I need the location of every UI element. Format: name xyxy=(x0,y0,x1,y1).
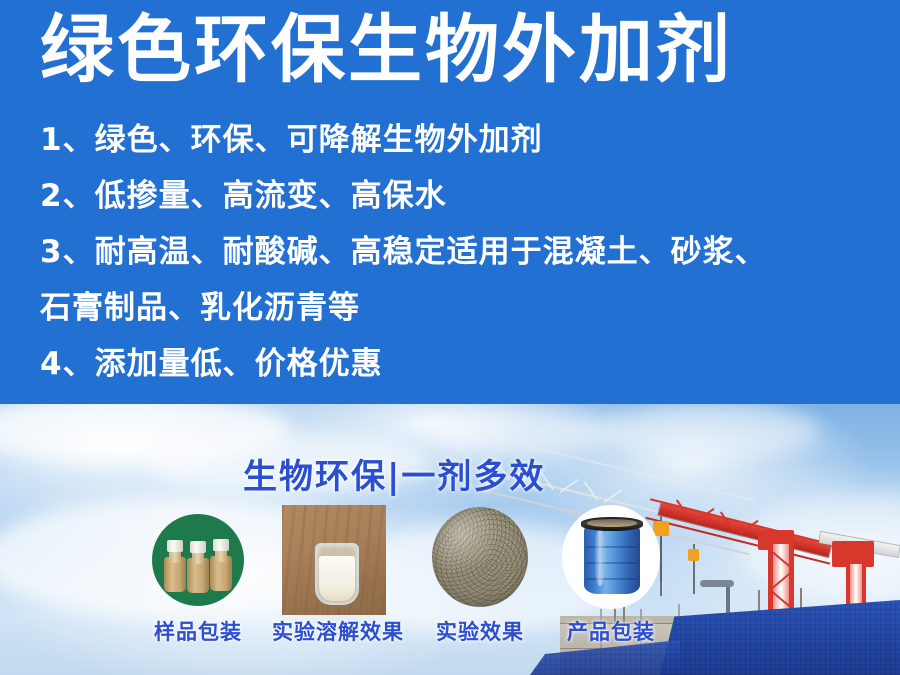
feature-item: 3、耐高温、耐酸碱、高稳定适用于混凝土、砂浆、 xyxy=(40,224,870,280)
cloud-shape xyxy=(600,404,820,459)
beaker-shape xyxy=(315,543,359,605)
product-poster: 绿色环保生物外加剂 1、绿色、环保、可降解生物外加剂 2、低掺量、高流变、高保水… xyxy=(0,0,900,675)
blue-safety-netting xyxy=(660,600,900,675)
beaker-dissolution-icon[interactable] xyxy=(282,505,386,615)
crane-hook-block xyxy=(688,549,699,561)
crane-hoist-cable xyxy=(660,536,662,596)
street-lamp-head xyxy=(700,580,734,587)
bottle-cap xyxy=(213,539,230,551)
bottle-cap xyxy=(190,541,207,553)
blue-info-panel: 绿色环保生物外加剂 1、绿色、环保、可降解生物外加剂 2、低掺量、高流变、高保水… xyxy=(0,0,900,404)
bottle-shape xyxy=(210,539,232,591)
bottle-shape xyxy=(187,541,209,593)
beaker-liquid xyxy=(319,556,355,601)
thumbnail-label: 样品包装 xyxy=(138,620,258,644)
drum-body xyxy=(584,522,640,594)
photo-headline: 生物环保|一剂多效 xyxy=(243,457,545,497)
blue-drum-icon[interactable] xyxy=(562,505,660,609)
drum-rim-inner xyxy=(587,519,637,527)
thumbnail-label: 实验效果 xyxy=(430,620,530,644)
cloud-shape xyxy=(430,409,610,454)
feature-item-continuation: 石膏制品、乳化沥青等 xyxy=(40,280,870,336)
feature-item: 2、低掺量、高流变、高保水 xyxy=(40,168,870,224)
bottle-cap xyxy=(167,540,184,552)
feature-list: 1、绿色、环保、可降解生物外加剂 2、低掺量、高流变、高保水 3、耐高温、耐酸碱… xyxy=(40,112,870,392)
mortar-sample-icon[interactable] xyxy=(432,507,528,607)
feature-item: 4、添加量低、价格优惠 xyxy=(40,336,870,392)
crane-hook-block xyxy=(653,521,669,536)
sample-bottles-icon[interactable] xyxy=(152,514,244,606)
thumbnail-label: 产品包装 xyxy=(556,620,666,644)
page-title: 绿色环保生物外加剂 xyxy=(40,8,860,92)
thumbnail-label: 实验溶解效果 xyxy=(272,620,396,644)
feature-item: 1、绿色、环保、可降解生物外加剂 xyxy=(40,112,870,168)
drum-ridge xyxy=(586,578,638,580)
construction-photo-band: 生物环保|一剂多效 样品包装 xyxy=(0,404,900,675)
drum-highlight xyxy=(594,528,606,586)
bottle-shape xyxy=(164,540,186,592)
